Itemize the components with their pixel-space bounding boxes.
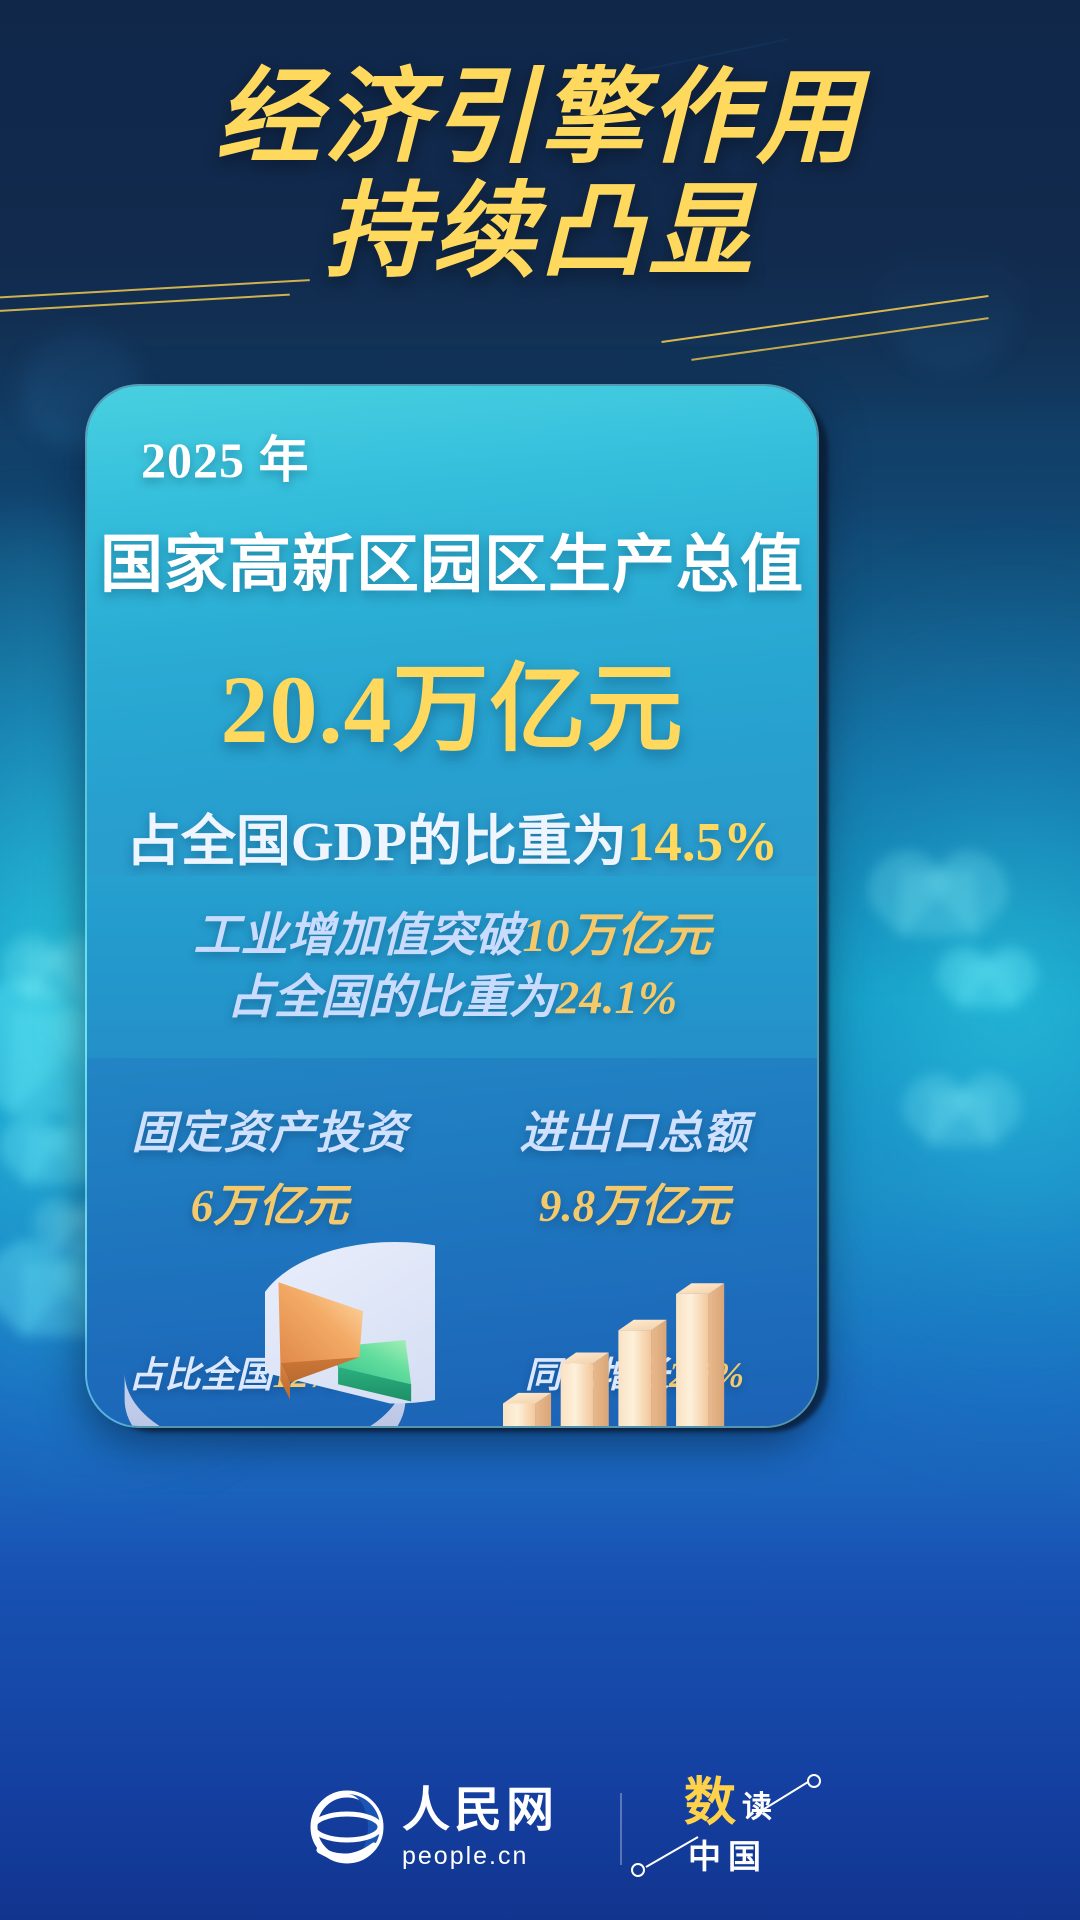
title-line-1: 经济引擎作用	[0, 62, 1080, 172]
card-section-top: 2025 年 国家高新区园区生产总值 20.4万亿元 占全国GDP的比重为14.…	[87, 386, 817, 876]
shudu-main-char: 数	[684, 1780, 736, 1828]
industry-line-2: 占全国的比重为24.1%	[227, 967, 677, 1029]
poster-title: 经济引擎作用 持续凸显	[0, 62, 1080, 286]
heart-bokeh	[26, 950, 84, 1000]
metric-column-fixed-asset-investment: 固定资产投资 6万亿元	[87, 1058, 452, 1426]
industry-line-1-value: 10万亿元	[523, 910, 711, 962]
gdp-value: 20.4万亿元	[87, 631, 817, 770]
industry-line-1-prefix: 工业增加值突破	[194, 910, 523, 962]
industry-line-2-value: 24.1%	[556, 972, 677, 1024]
fixed-asset-value: 6万亿元	[191, 1169, 349, 1234]
fixed-asset-title: 固定资产投资	[131, 1096, 407, 1161]
import-export-value: 9.8万亿元	[539, 1169, 730, 1234]
heart-bokeh	[900, 870, 976, 936]
footer: 人民网 people.cn 数 读 中国	[0, 1780, 1080, 1878]
footer-divider	[620, 1793, 622, 1865]
year-label: 2025 年	[141, 420, 817, 492]
heart-bokeh	[930, 1090, 994, 1146]
connector-dots-icon	[628, 1831, 702, 1882]
people-cn-chinese-name: 人民网	[402, 1787, 558, 1835]
card-section-industry: 工业增加值突破10万亿元 占全国的比重为24.1%	[87, 876, 817, 1058]
headline-label: 国家高新区园区生产总值	[87, 514, 817, 605]
people-cn-logo[interactable]: 人民网 people.cn	[308, 1787, 558, 1871]
industry-line-1: 工业增加值突破10万亿元	[194, 905, 711, 967]
people-cn-domain: people.cn	[402, 1842, 528, 1871]
card-section-bottom: 固定资产投资 6万亿元	[87, 1058, 817, 1426]
heart-bokeh	[960, 960, 1014, 1008]
connector-dots-icon	[752, 1774, 826, 1825]
gdp-share-prefix: 占全国GDP的比重为	[126, 811, 627, 872]
globe-icon	[308, 1788, 386, 1871]
metric-column-import-export: 进出口总额 9.8万亿元	[452, 1058, 817, 1426]
pie-chart-3d	[87, 1234, 452, 1346]
gdp-share-value: 14.5%	[627, 811, 778, 872]
import-export-title: 进出口总额	[519, 1096, 749, 1161]
heart-bokeh	[26, 1130, 88, 1184]
stats-card: 2025 年 国家高新区园区生产总值 20.4万亿元 占全国GDP的比重为14.…	[85, 384, 819, 1428]
industry-line-2-prefix: 占全国的比重为	[227, 972, 556, 1024]
bar-chart-3d	[452, 1234, 817, 1346]
title-line-2: 持续凸显	[0, 176, 1080, 286]
gdp-share-line: 占全国GDP的比重为14.5%	[87, 796, 817, 876]
shudu-zhongguo-logo[interactable]: 数 读 中国	[684, 1780, 772, 1878]
